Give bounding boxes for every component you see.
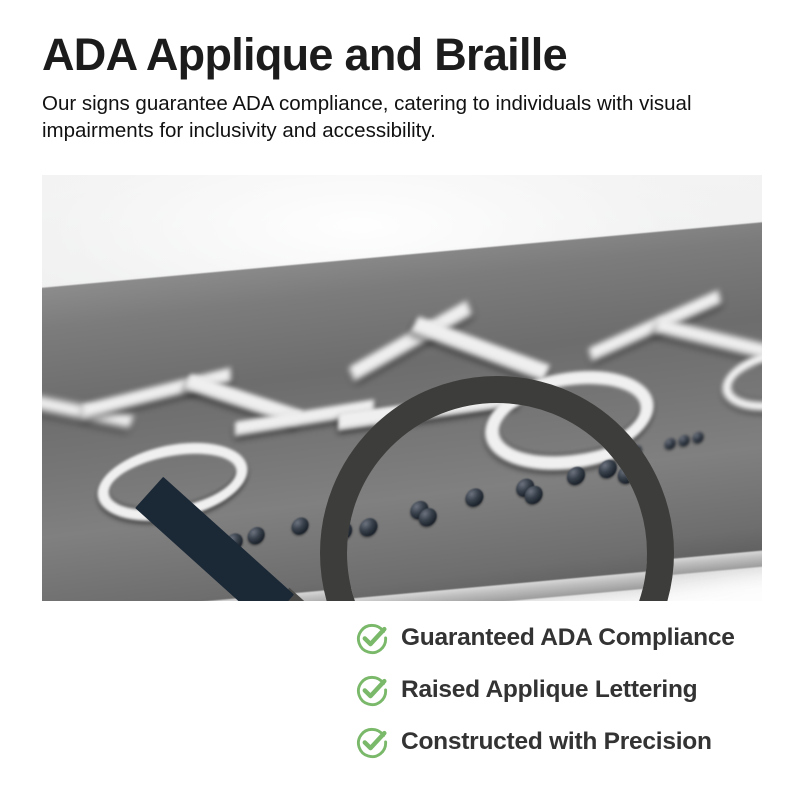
braille-dot [583, 456, 594, 469]
check-circle-icon [355, 673, 389, 707]
braille-dot [693, 431, 704, 444]
braille-dot [555, 463, 572, 483]
feature-item-3: Constructed with Precision [355, 716, 770, 768]
braille-dot [515, 481, 532, 501]
check-circle-icon [355, 621, 389, 655]
feature-label: Guaranteed ADA Compliance [401, 624, 735, 652]
feature-list: Guaranteed ADA Compliance Raised Appliqu… [355, 612, 770, 768]
braille-dot [597, 452, 608, 465]
braille-dot [631, 445, 642, 458]
header: ADA Applique and Braille Our signs guara… [42, 28, 766, 144]
applique-letter-stroke [410, 316, 550, 382]
braille-dot [335, 515, 352, 535]
braille-dot [665, 437, 676, 450]
feature-label: Constructed with Precision [401, 728, 712, 756]
ada-applique-braille-promo-card: ADA Applique and Braille Our signs guara… [0, 0, 804, 804]
feature-item-1: Guaranteed ADA Compliance [355, 612, 770, 664]
braille-dot [292, 516, 309, 536]
braille-dot [248, 526, 265, 546]
product-photo [42, 175, 762, 601]
applique-letter-stroke [653, 318, 762, 360]
braille-dot [459, 483, 476, 503]
braille-dot [679, 434, 690, 447]
braille-dot [359, 511, 376, 531]
page-subtitle: Our signs guarantee ADA compliance, cate… [42, 90, 732, 144]
braille-dot [415, 502, 432, 522]
feature-item-2: Raised Applique Lettering [355, 664, 770, 716]
feature-label: Raised Applique Lettering [401, 676, 697, 704]
page-title: ADA Applique and Braille [42, 28, 766, 82]
applique-letter-o [98, 433, 248, 531]
check-circle-icon [355, 725, 389, 759]
